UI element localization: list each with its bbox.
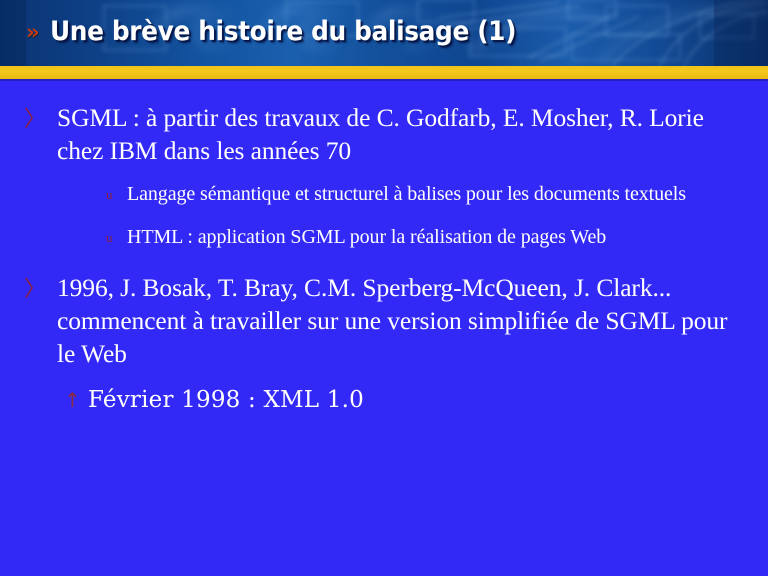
bullet-chevron-icon: 〉	[24, 271, 57, 306]
bullet-up-arrow-icon: ↑	[64, 384, 88, 416]
list-item: 〉 1996, J. Bosak, T. Bray, C.M. Sperberg…	[0, 271, 768, 370]
list-item: 〉 SGML : à partir des travaux de C. Godf…	[0, 101, 768, 167]
bullet-square-icon: u	[106, 181, 127, 208]
list-item: ↑ Février 1998 : XML 1.0	[0, 384, 768, 416]
list-item: u Langage sémantique et structurel à bal…	[0, 181, 768, 208]
list-item-text: SGML : à partir des travaux de C. Godfar…	[57, 101, 750, 167]
page-title: Une brève histoire du balisage (1)	[50, 18, 516, 46]
slide-canvas: » Une brève histoire du balisage (1) 〉 S…	[0, 0, 768, 576]
slide-header: » Une brève histoire du balisage (1)	[0, 0, 768, 66]
bullet-chevron-icon: 〉	[24, 101, 57, 136]
list-item-text: HTML : application SGML pour la réalisat…	[127, 224, 728, 250]
title-chevron-icon: »	[26, 22, 38, 43]
list-item-text: 1996, J. Bosak, T. Bray, C.M. Sperberg-M…	[57, 271, 750, 370]
list-item: u HTML : application SGML pour la réalis…	[0, 224, 768, 251]
slide-body: 〉 SGML : à partir des travaux de C. Godf…	[0, 81, 768, 576]
header-accent-bar	[0, 66, 768, 79]
bullet-square-icon: u	[106, 224, 127, 251]
title-row: » Une brève histoire du balisage (1)	[26, 18, 556, 46]
list-item-text: Langage sémantique et structurel à balis…	[127, 181, 728, 207]
list-item-text: Février 1998 : XML 1.0	[88, 384, 768, 416]
